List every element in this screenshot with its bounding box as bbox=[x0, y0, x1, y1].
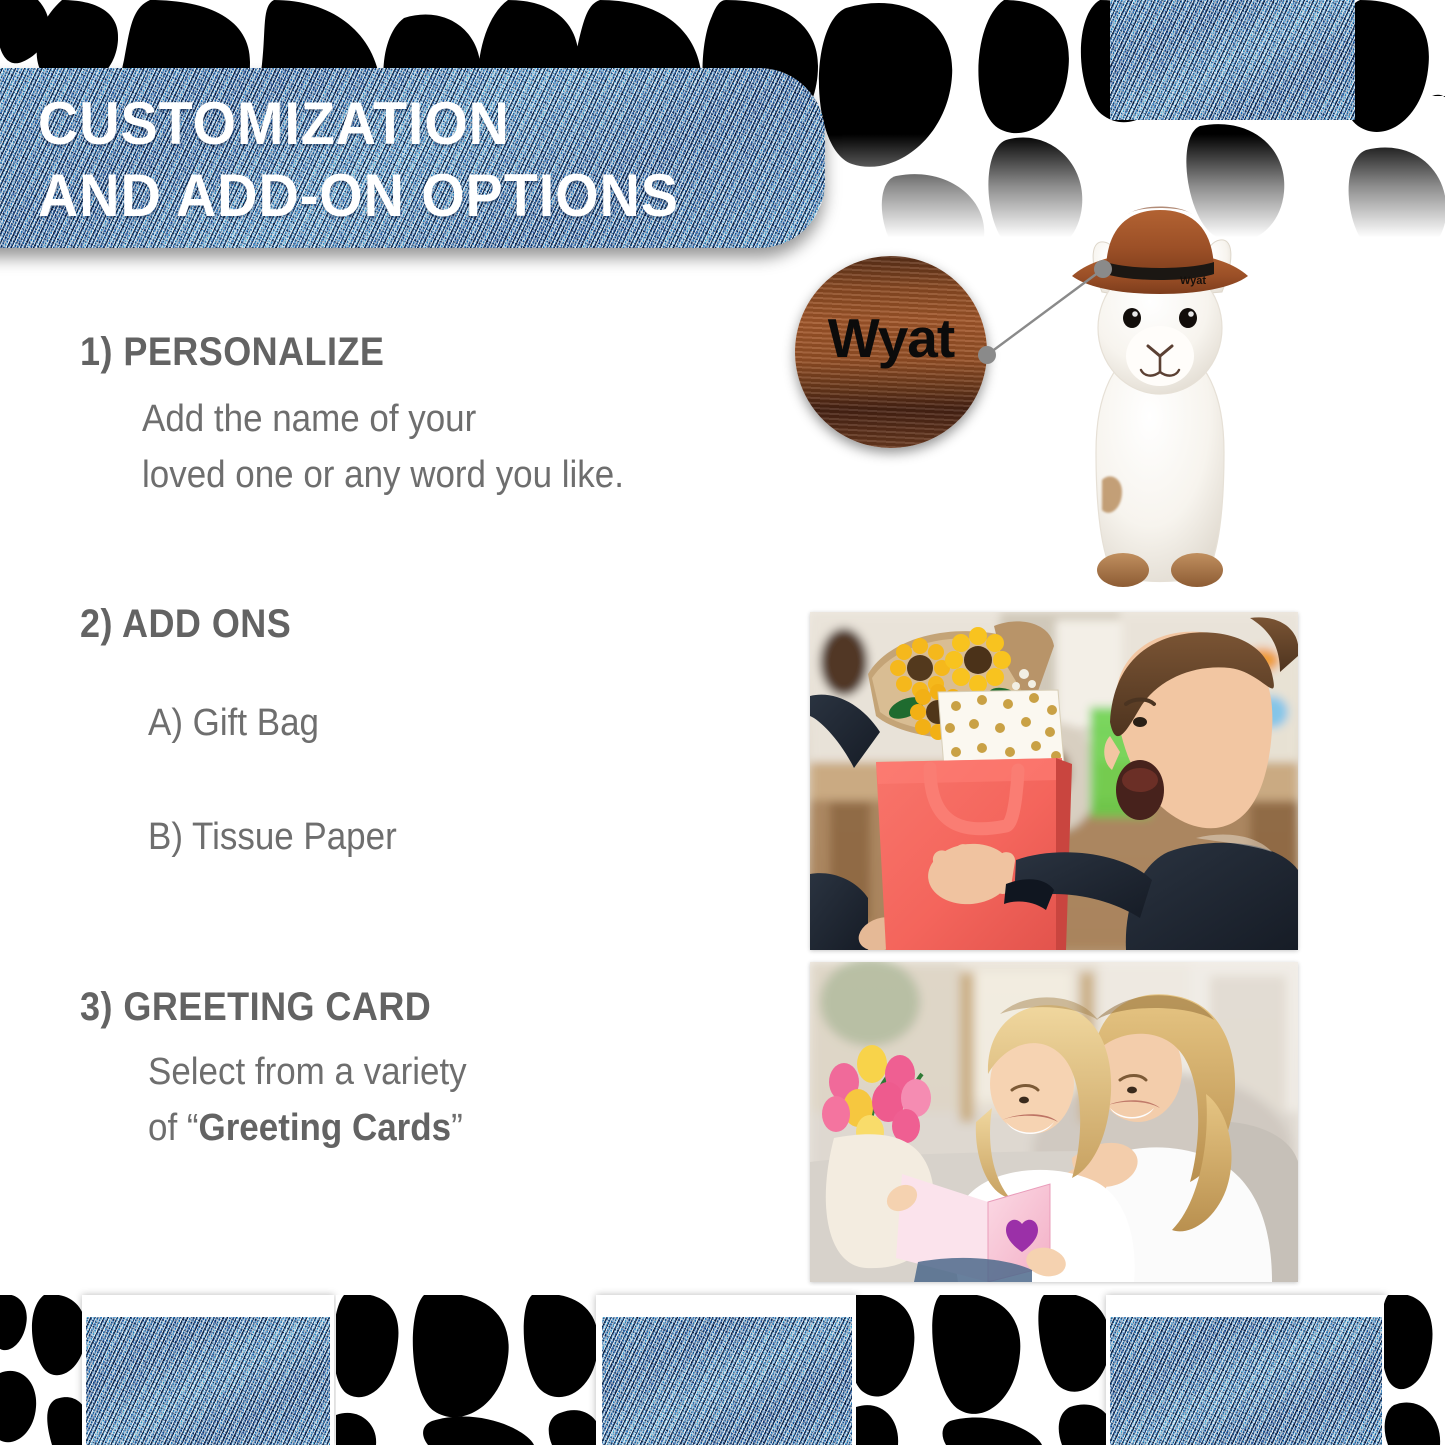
infographic-page: CUSTOMIZATION AND ADD-ON OPTIONS 1) PERS… bbox=[0, 0, 1445, 1445]
personalization-callout-circle: Wyat bbox=[795, 256, 987, 448]
step-3-quote-prefix: of “ bbox=[148, 1107, 199, 1149]
step-3-title: 3) GREETING CARD bbox=[80, 985, 453, 1030]
hat-embroidered-name: Wyat bbox=[1180, 275, 1206, 287]
step-1-title: 1) PERSONALIZE bbox=[80, 330, 607, 375]
cow-print-panel-4 bbox=[1384, 1295, 1445, 1445]
denim-panel-3 bbox=[1106, 1295, 1386, 1445]
gift-bag-photo bbox=[810, 612, 1298, 950]
cow-print-panel-1 bbox=[0, 1295, 86, 1445]
step-3-body-line1: Select from a variety bbox=[148, 1044, 467, 1100]
banner-title: CUSTOMIZATION AND ADD-ON OPTIONS bbox=[38, 88, 679, 232]
denim-swatch-3 bbox=[1110, 1317, 1382, 1445]
step-2-title: 2) ADD ONS bbox=[80, 602, 291, 647]
cow-print-panel-2 bbox=[336, 1295, 602, 1445]
step-1-body-line1: Add the name of your bbox=[142, 391, 624, 447]
step-personalize: 1) PERSONALIZE Add the name of your love… bbox=[80, 330, 666, 503]
step-3-body: Select from a variety of “Greeting Cards… bbox=[148, 1044, 467, 1156]
step-1-body: Add the name of your loved one or any wo… bbox=[142, 391, 624, 503]
cow-print-panel-3 bbox=[856, 1295, 1112, 1445]
bottom-decorative-border bbox=[0, 1295, 1445, 1445]
callout-name-text: Wyat bbox=[795, 306, 987, 370]
denim-swatch-1 bbox=[86, 1317, 330, 1445]
header-banner: CUSTOMIZATION AND ADD-ON OPTIONS bbox=[0, 68, 825, 248]
denim-panel-1 bbox=[82, 1295, 334, 1445]
step-3-quote-suffix: ” bbox=[451, 1107, 463, 1149]
callout-leader-line bbox=[975, 255, 1115, 365]
add-on-option-gift-bag: A) Gift Bag bbox=[148, 702, 319, 745]
denim-panel-2 bbox=[596, 1295, 858, 1445]
denim-swatch-2 bbox=[602, 1317, 852, 1445]
banner-title-line1: CUSTOMIZATION bbox=[38, 88, 679, 160]
step-add-ons: 2) ADD ONS bbox=[80, 602, 315, 647]
step-greeting-card: 3) GREETING CARD Select from a variety o… bbox=[80, 985, 494, 1156]
add-on-option-tissue-paper: B) Tissue Paper bbox=[148, 816, 397, 859]
banner-title-line2: AND ADD-ON OPTIONS bbox=[38, 160, 679, 232]
greeting-card-photo bbox=[810, 962, 1298, 1282]
step-3-quote-bold: Greeting Cards bbox=[199, 1107, 452, 1149]
step-1-body-line2: loved one or any word you like. bbox=[142, 447, 624, 503]
step-3-body-line2: of “Greeting Cards” bbox=[148, 1100, 467, 1156]
